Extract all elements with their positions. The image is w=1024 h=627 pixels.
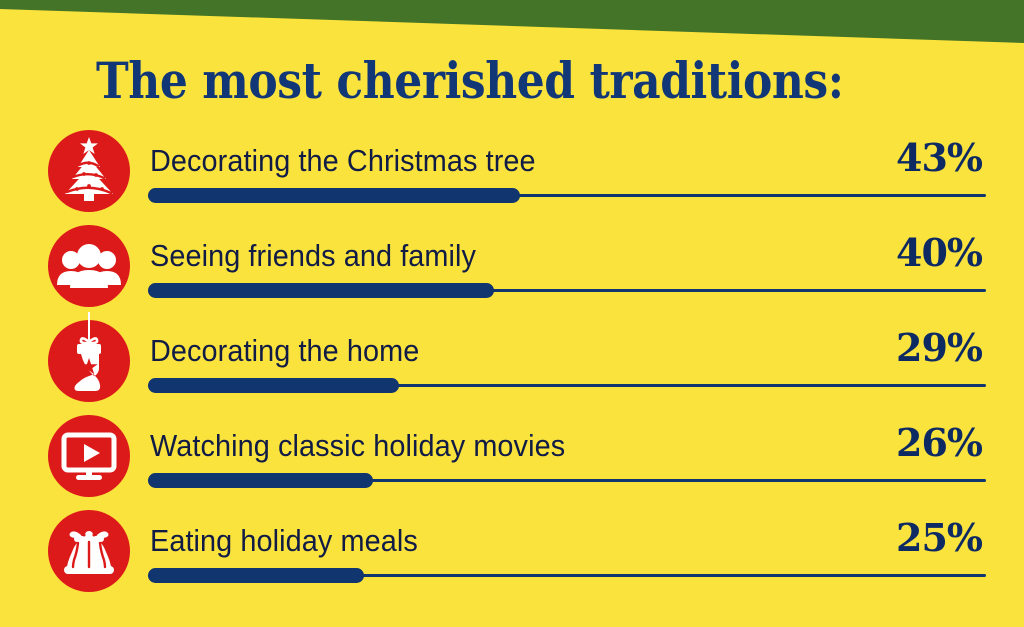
bar-fill — [148, 188, 520, 203]
traditions-list: Decorating the Christmas tree 43% — [0, 128, 1024, 603]
tv-play-icon — [48, 415, 130, 497]
people-group-icon — [48, 225, 130, 307]
top-green-band — [0, 0, 1024, 46]
bar-fill — [148, 568, 364, 583]
list-item-label: Decorating the Christmas tree — [150, 143, 536, 179]
list-item-label: Watching classic holiday movies — [150, 428, 565, 464]
bar-fill — [148, 378, 399, 393]
list-item: Decorating the Christmas tree 43% — [0, 128, 1024, 223]
list-item-percent: 29% — [896, 326, 982, 370]
infographic-canvas: The most cherished traditions: — [0, 0, 1024, 627]
list-item-label: Seeing friends and family — [150, 238, 476, 274]
list-item-label: Decorating the home — [150, 333, 419, 369]
list-item: Eating holiday meals 25% — [0, 508, 1024, 603]
list-item-percent: 26% — [896, 421, 982, 465]
list-item-label: Eating holiday meals — [150, 523, 418, 559]
list-item-percent: 25% — [896, 516, 982, 560]
list-item: Watching classic holiday movies 26% — [0, 413, 1024, 508]
christmas-pudding-icon — [48, 510, 130, 592]
bar-fill — [148, 283, 494, 298]
list-item-percent: 40% — [896, 231, 982, 275]
bar-fill — [148, 473, 373, 488]
christmas-stocking-icon — [48, 320, 130, 402]
christmas-tree-icon — [48, 130, 130, 212]
page-title: The most cherished traditions: — [96, 52, 870, 110]
list-item: Decorating the home 29% — [0, 318, 1024, 413]
list-item: Seeing friends and family 40% — [0, 223, 1024, 318]
list-item-percent: 43% — [896, 136, 982, 180]
